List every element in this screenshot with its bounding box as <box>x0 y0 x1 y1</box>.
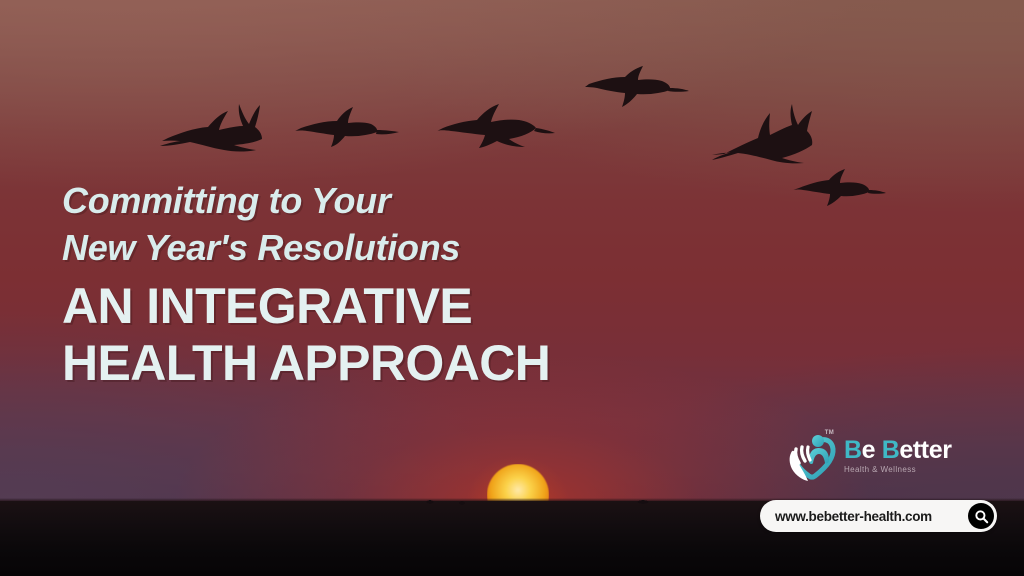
brand-name-b1: B <box>844 436 862 464</box>
brand-name: Be Better <box>844 438 952 463</box>
heart-hand-person-logo-icon: TM <box>786 431 840 483</box>
trademark-mark: TM <box>825 430 834 436</box>
brand-block[interactable]: TM <box>786 431 992 483</box>
search-icon[interactable] <box>968 503 994 529</box>
kicker-text: Committing to Your New Year's Resolution… <box>62 178 682 272</box>
website-url-bar[interactable]: www.bebetter-health.com <box>760 500 997 532</box>
page-title: AN INTEGRATIVE HEALTH APPROACH <box>62 278 682 392</box>
headline-block: Committing to Your New Year's Resolution… <box>62 178 682 392</box>
website-url-text: www.bebetter-health.com <box>775 509 968 524</box>
brand-name-etter: etter <box>899 436 951 464</box>
brand-name-b2: B <box>882 436 900 464</box>
brand-tagline: Health & Wellness <box>844 466 952 475</box>
banner-image: Committing to Your New Year's Resolution… <box>0 0 1024 576</box>
brand-name-e: e <box>862 436 882 464</box>
